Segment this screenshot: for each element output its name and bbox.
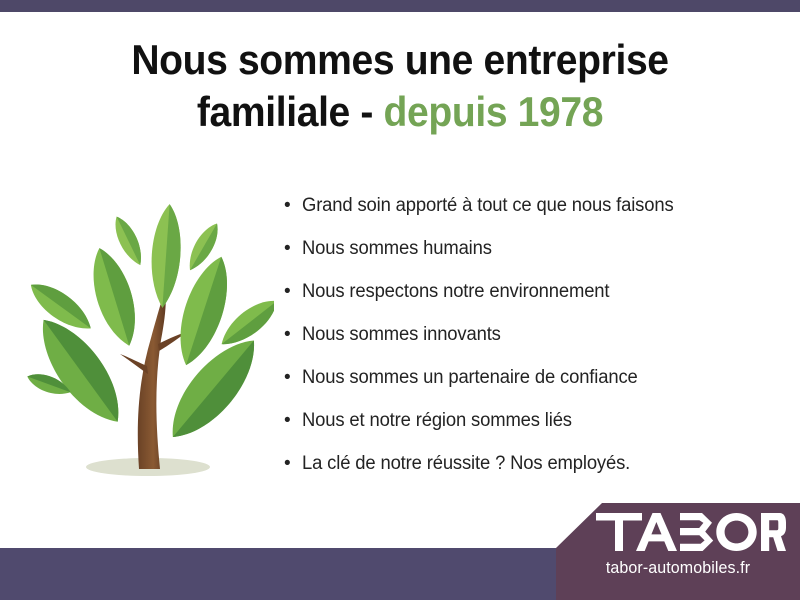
bullet-marker-icon: • (284, 451, 302, 476)
list-item: • Nous sommes innovants (284, 322, 754, 365)
tree-branch-left (120, 354, 148, 374)
list-item: • Nous sommes humains (284, 236, 754, 279)
list-item-label: La clé de notre réussite ? Nos employés. (302, 451, 630, 476)
list-item: • La clé de notre réussite ? Nos employé… (284, 451, 754, 494)
list-item-label: Nous sommes humains (302, 236, 492, 261)
list-item: • Grand soin apporté à tout ce que nous … (284, 193, 754, 236)
list-item: • Nous respectons notre environnement (284, 279, 754, 322)
list-item-label: Grand soin apporté à tout ce que nous fa… (302, 193, 674, 218)
list-item-label: Nous sommes innovants (302, 322, 501, 347)
list-item-label: Nous et notre région sommes liés (302, 408, 572, 433)
list-item-label: Nous respectons notre environnement (302, 279, 609, 304)
slide-canvas: Nous sommes une entreprise familiale - d… (0, 0, 800, 600)
value-bullet-list: • Grand soin apporté à tout ce que nous … (284, 193, 754, 494)
leaf-lower-right (156, 327, 270, 451)
list-item: • Nous et notre région sommes liés (284, 408, 754, 451)
bullet-marker-icon: • (284, 365, 302, 390)
bullet-marker-icon: • (284, 193, 302, 218)
brand-logo-block[interactable]: tabor-automobiles.fr (556, 503, 800, 600)
leaf-top-left-small (109, 213, 148, 269)
bullet-marker-icon: • (284, 236, 302, 261)
tabor-wordmark-icon (596, 513, 786, 551)
bullet-marker-icon: • (284, 322, 302, 347)
bullet-marker-icon: • (284, 408, 302, 433)
page-title: Nous sommes une entreprise familiale - d… (28, 34, 772, 138)
leaf-top-center (148, 203, 184, 309)
list-item: • Nous sommes un partenaire de confiance (284, 365, 754, 408)
title-line-2: familiale - depuis 1978 (28, 86, 772, 138)
title-line-2-plain: familiale (197, 88, 350, 135)
title-line-1: Nous sommes une entreprise (28, 34, 772, 86)
title-dash: - (360, 88, 373, 135)
title-accent-since: depuis 1978 (384, 88, 604, 135)
top-accent-bar (0, 0, 800, 12)
list-item-label: Nous sommes un partenaire de confiance (302, 365, 638, 390)
tree-trunk (138, 288, 166, 469)
brand-domain-label[interactable]: tabor-automobiles.fr (560, 559, 797, 578)
brand-logo-inner: tabor-automobiles.fr (556, 503, 800, 600)
tree-illustration (18, 188, 274, 484)
bullet-marker-icon: • (284, 279, 302, 304)
